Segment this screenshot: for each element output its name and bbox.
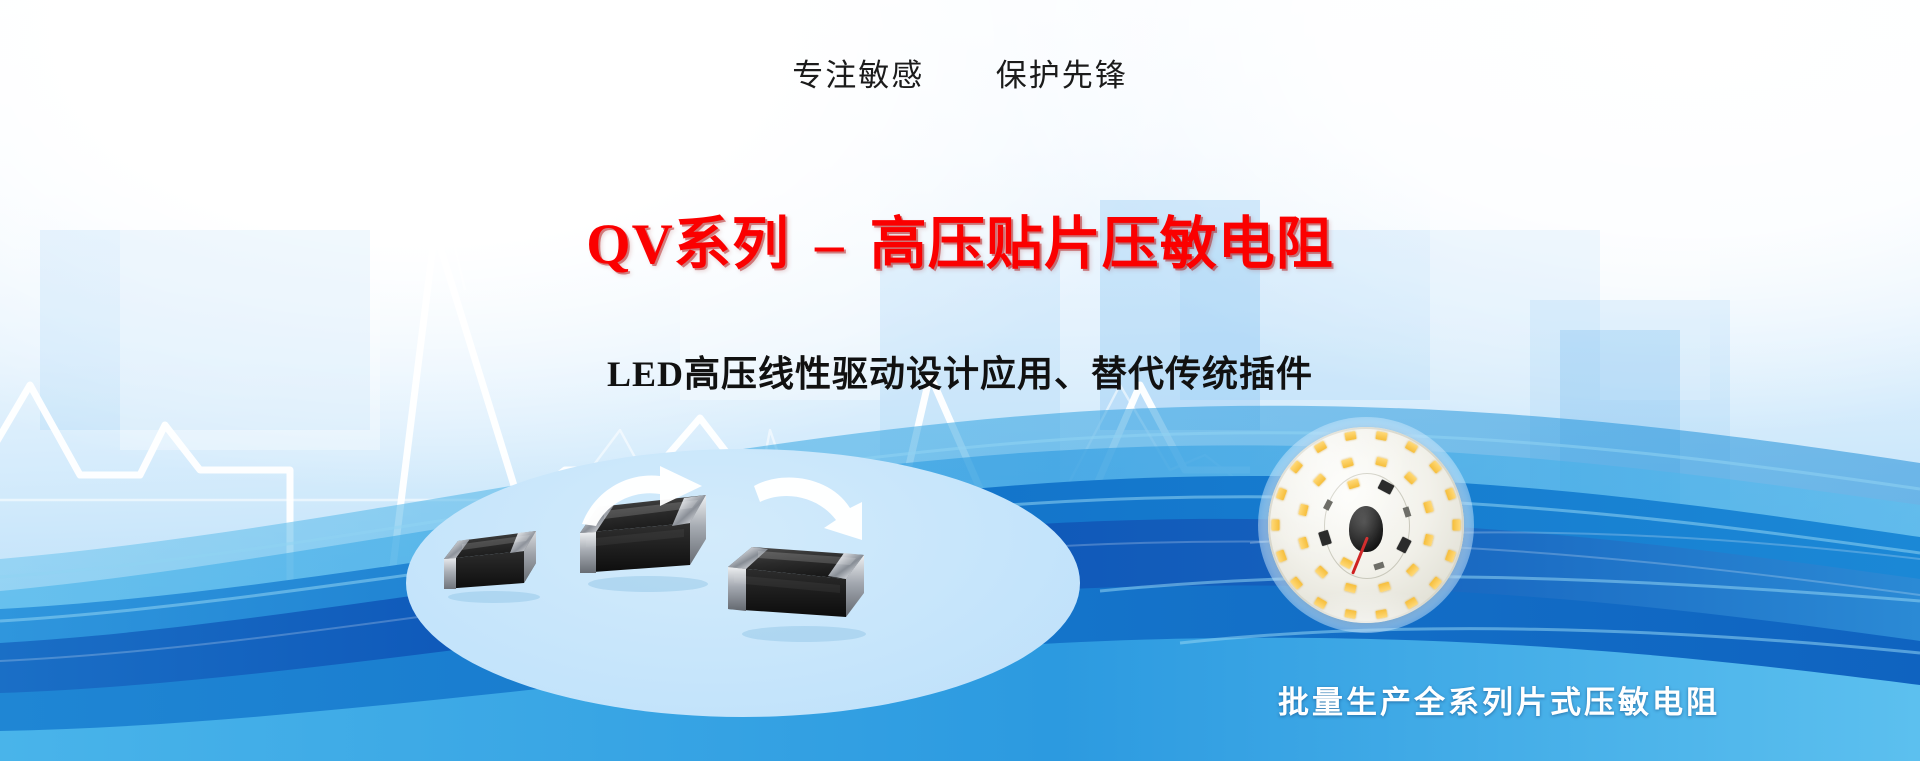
led-pcb-module [1268,427,1464,623]
progression-arrow-1 [578,466,706,533]
production-caption: 批量生产全系列片式压敏电阻 [1278,677,1720,722]
headline-dash: – [805,213,855,276]
led-module-pcb [1268,427,1464,623]
tagline-right: 保护先锋 [996,58,1128,93]
led-module-gloss [1268,427,1464,623]
page-title: QV系列 – 高压贴片压敏电阻 [0,198,1920,280]
page-subtitle: LED高压线性驱动设计应用、替代传统插件 [0,345,1920,397]
led-chip [1452,520,1460,531]
headline-product: 高压贴片压敏电阻 [870,213,1334,276]
led-chip [1272,520,1280,531]
led-chip [1376,609,1388,619]
led-chip [1344,609,1356,619]
product-banner: 专注敏感 保护先锋 QV系列 – 高压贴片压敏电阻 LED高压线性驱动设计应用、… [0,0,1920,761]
smd-varistor-small [432,517,554,603]
company-tagline: 专注敏感 保护先锋 [0,50,1920,95]
tagline-left: 专注敏感 [792,58,924,93]
progression-arrow-2 [752,470,874,549]
headline-series: QV系列 [586,213,790,276]
